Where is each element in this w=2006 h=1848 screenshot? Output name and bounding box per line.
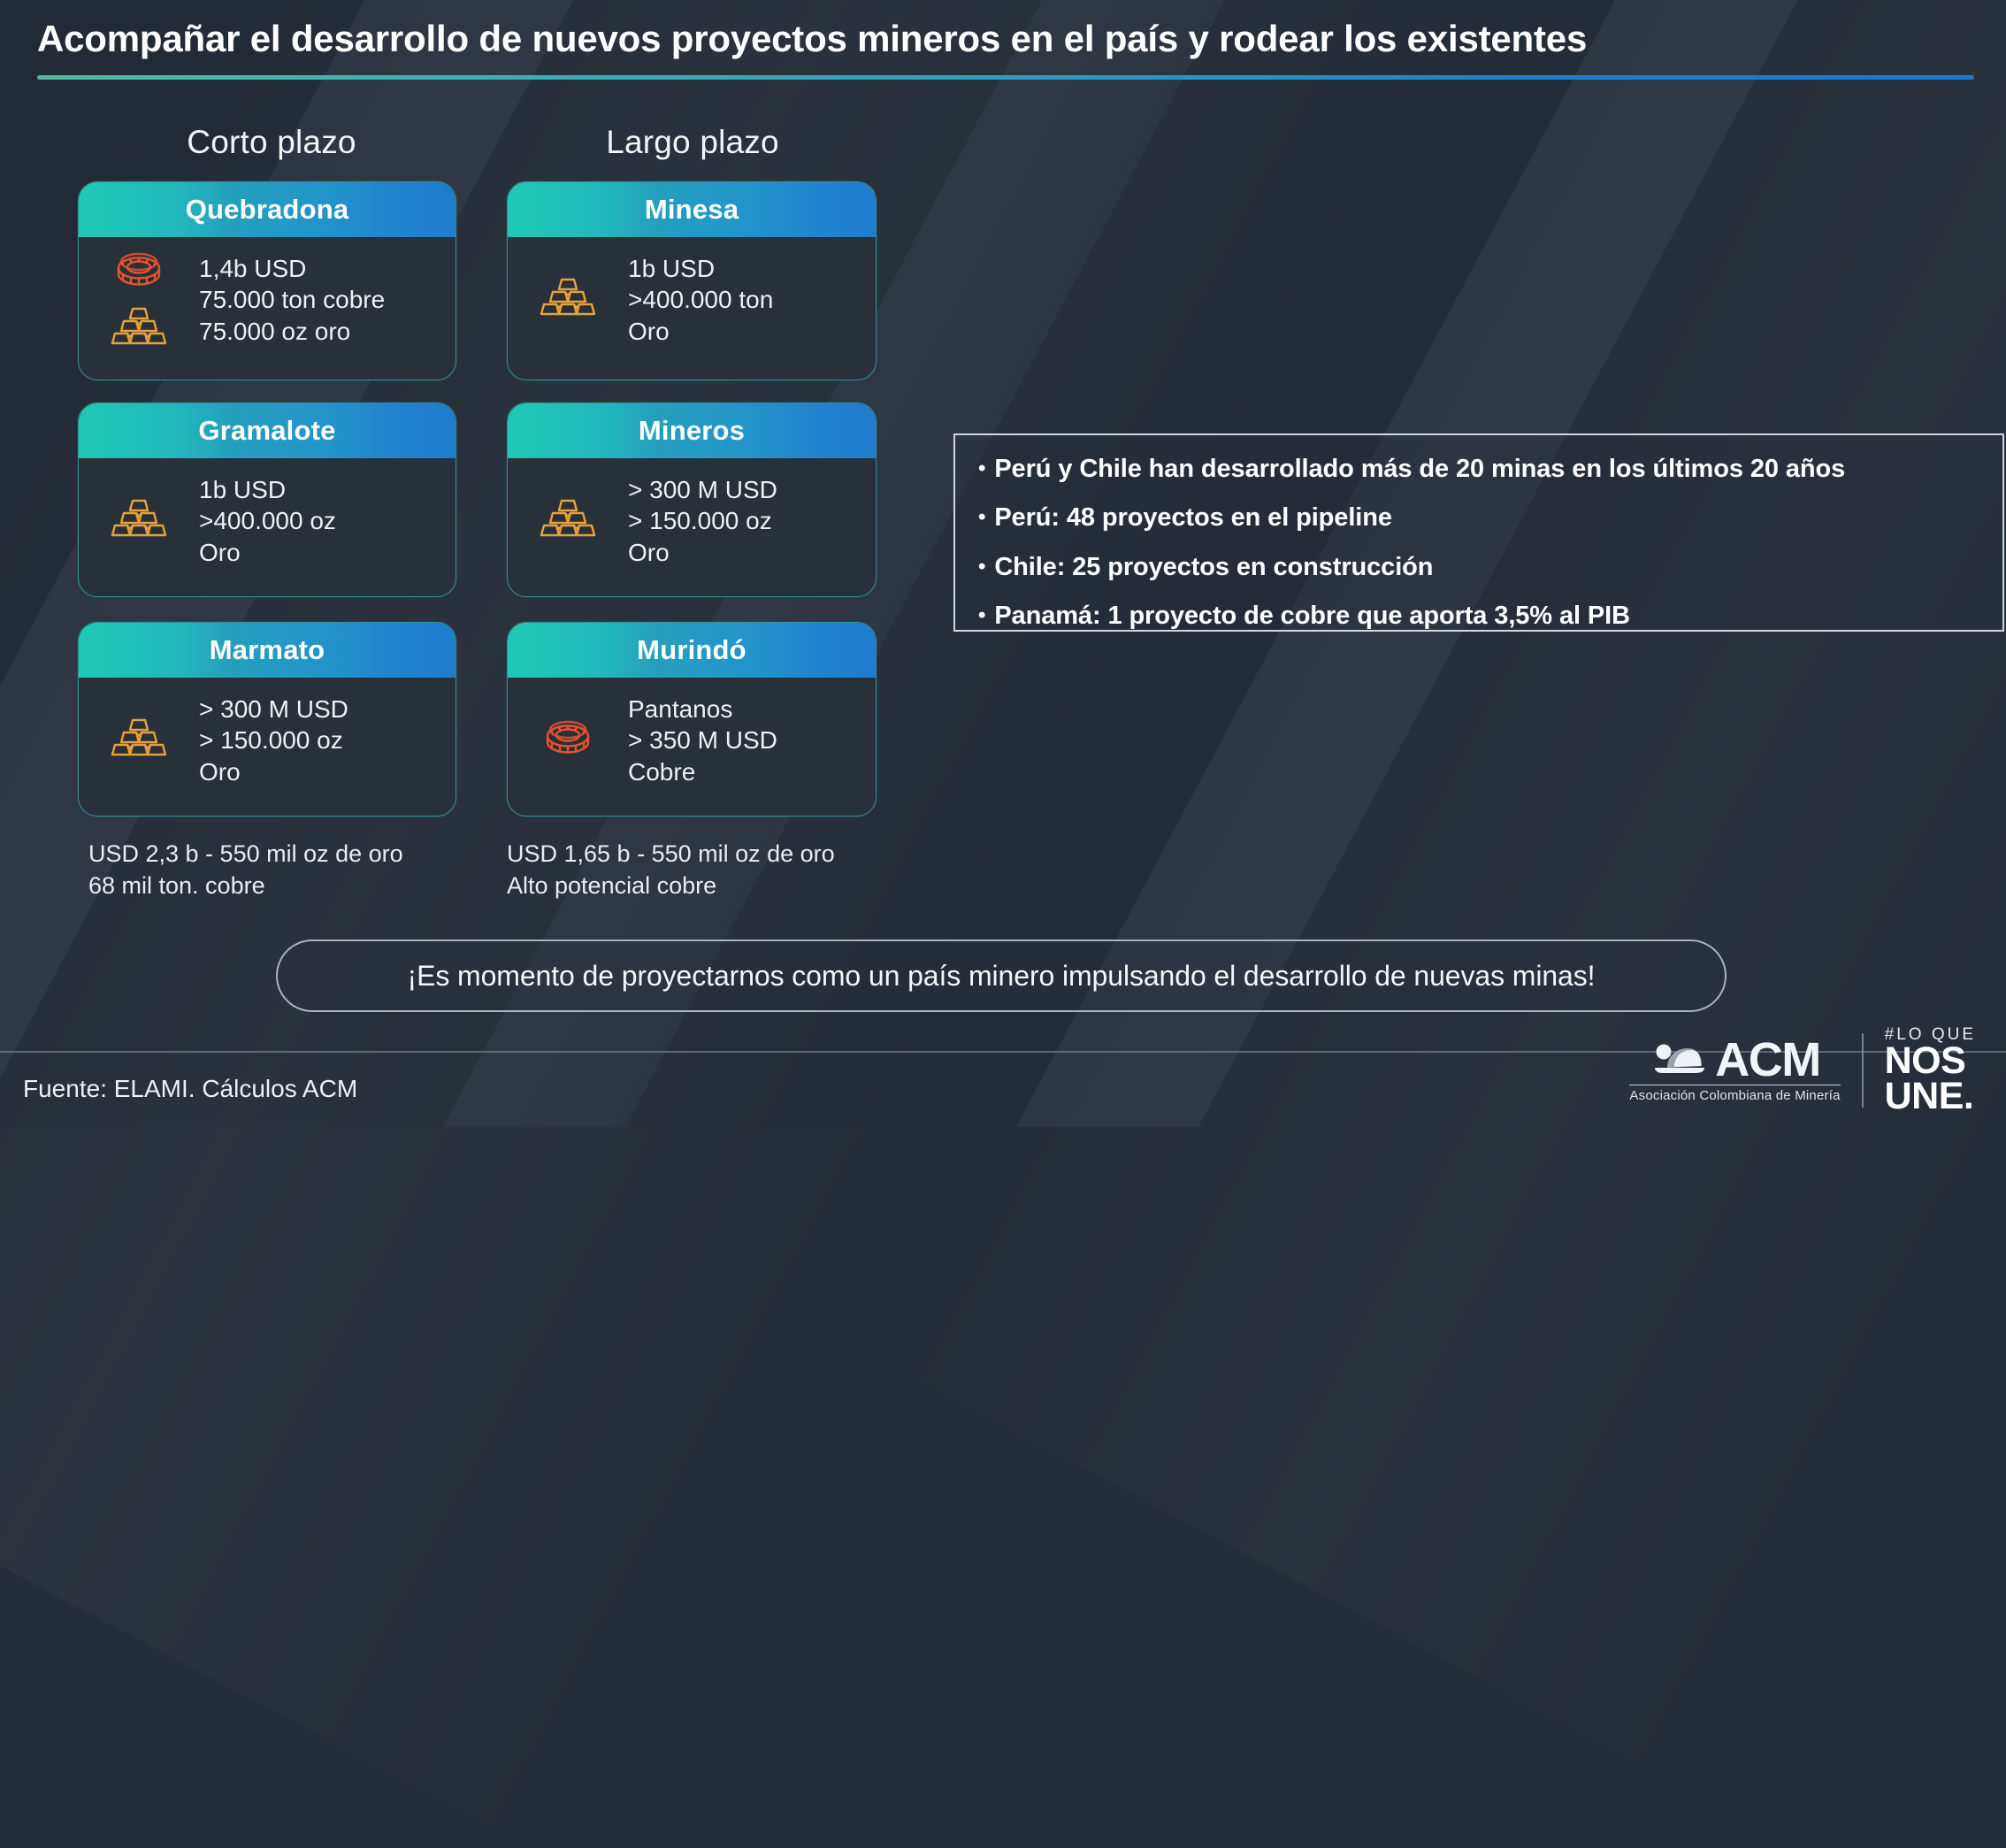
logo-divider xyxy=(1862,1033,1864,1108)
acm-subtitle: Asociación Colombiana de Minería xyxy=(1629,1085,1840,1103)
footnote-line-2: Alto potencial cobre xyxy=(507,870,923,902)
card-line-1: 1b USD xyxy=(199,474,336,505)
gold-bars-icon xyxy=(540,497,596,544)
bullet-text: Perú y Chile han desarrollado más de 20 … xyxy=(994,455,1845,483)
card-line-3: Cobre xyxy=(628,756,777,787)
card-line-2: > 350 M USD xyxy=(628,725,777,755)
card-line-3: Oro xyxy=(628,537,777,568)
column-footnote-largo-plazo: USD 1,65 b - 550 mil oz de oro Alto pote… xyxy=(507,839,923,902)
bullet-marker-icon: • xyxy=(978,455,985,482)
list-item: • Perú: 48 proyectos en el pipeline xyxy=(978,503,1976,532)
card-icon-group xyxy=(102,497,176,544)
card-detail-lines: Pantanos > 350 M USD Cobre xyxy=(628,694,777,787)
bullet-text: Perú: 48 proyectos en el pipeline xyxy=(994,503,1392,532)
card-line-2: 75.000 ton cobre xyxy=(199,284,385,315)
callout-text: ¡Es momento de proyectarnos como un país… xyxy=(408,960,1596,993)
bullet-list: • Perú y Chile han desarrollado más de 2… xyxy=(955,435,2002,631)
card-icon-group xyxy=(531,716,605,764)
card-line-3: 75.000 oz oro xyxy=(199,316,385,347)
card-line-2: >400.000 ton xyxy=(628,284,773,315)
mining-helmet-icon xyxy=(1650,1038,1708,1083)
card-line-2: >400.000 oz xyxy=(199,505,336,536)
column-heading-largo-plazo: Largo plazo xyxy=(507,124,878,161)
card-title: Quebradona xyxy=(186,194,349,226)
card-line-3: Oro xyxy=(199,756,348,787)
card-body: 1,4b USD 75.000 ton cobre 75.000 oz oro xyxy=(79,237,456,370)
callout-banner: ¡Es momento de proyectarnos como un país… xyxy=(276,939,1727,1012)
project-card-mineros[interactable]: Mineros xyxy=(507,403,877,597)
regional-context-panel: • Perú y Chile han desarrollado más de 2… xyxy=(953,433,2004,632)
gold-bars-icon xyxy=(540,276,596,323)
bullet-marker-icon: • xyxy=(978,503,985,531)
card-header: Marmato xyxy=(79,623,456,678)
copper-mine-icon xyxy=(111,248,166,296)
project-card-quebradona[interactable]: Quebradona xyxy=(78,181,456,380)
card-line-1: 1,4b USD xyxy=(199,253,385,284)
footnote-line-2: 68 mil ton. cobre xyxy=(88,870,504,902)
card-line-3: Oro xyxy=(199,537,336,568)
acm-logo-top: ACM xyxy=(1650,1038,1819,1083)
header: Acompañar el desarrollo de nuevos proyec… xyxy=(37,18,1974,80)
bullet-text: Chile: 25 proyectos en construcción xyxy=(994,553,1433,581)
card-line-2: > 150.000 oz xyxy=(199,725,348,755)
card-detail-lines: > 300 M USD > 150.000 oz Oro xyxy=(199,694,348,787)
card-detail-lines: 1,4b USD 75.000 ton cobre 75.000 oz oro xyxy=(199,253,385,347)
card-line-1: Pantanos xyxy=(628,694,777,725)
card-icon-group xyxy=(102,248,176,352)
tagline-nos-une: #LO QUE NOS UNE. xyxy=(1885,1027,1976,1114)
bullet-text: Panamá: 1 proyecto de cobre que aporta 3… xyxy=(994,602,1630,630)
card-icon-group xyxy=(102,717,176,763)
card-icon-group xyxy=(531,276,605,323)
list-item: • Perú y Chile han desarrollado más de 2… xyxy=(978,455,1976,483)
bullet-marker-icon: • xyxy=(978,602,985,629)
gold-bars-icon xyxy=(111,305,167,352)
card-body: > 300 M USD > 150.000 oz Oro xyxy=(79,678,456,805)
card-header: Murindó xyxy=(508,623,876,678)
list-item: • Panamá: 1 proyecto de cobre que aporta… xyxy=(978,602,1976,630)
project-card-murindo[interactable]: Murindó Pantanos > 350 M USD xyxy=(507,622,877,817)
card-header: Minesa xyxy=(508,182,876,237)
card-body: Pantanos > 350 M USD Cobre xyxy=(508,678,876,805)
card-title: Murindó xyxy=(637,634,747,666)
card-line-1: > 300 M USD xyxy=(628,474,777,505)
project-card-marmato[interactable]: Marmato xyxy=(78,622,456,817)
card-header: Mineros xyxy=(508,403,876,458)
card-line-1: 1b USD xyxy=(628,253,773,284)
page-title: Acompañar el desarrollo de nuevos proyec… xyxy=(37,18,1974,60)
slide-root: Acompañar el desarrollo de nuevos proyec… xyxy=(0,0,2006,1127)
footer-source-text: Fuente: ELAMI. Cálculos ACM xyxy=(23,1075,357,1103)
card-body: 1b USD >400.000 oz Oro xyxy=(79,458,456,586)
title-underline-rule xyxy=(37,75,1974,80)
project-card-gramalote[interactable]: Gramalote xyxy=(78,403,456,597)
card-title: Marmato xyxy=(210,634,325,666)
gold-bars-icon xyxy=(111,717,167,763)
card-line-1: > 300 M USD xyxy=(199,694,348,725)
tagline-line-3: UNE. xyxy=(1885,1078,1976,1114)
bullet-marker-icon: • xyxy=(978,553,985,580)
footnote-line-1: USD 2,3 b - 550 mil oz de oro xyxy=(88,839,504,870)
card-title: Minesa xyxy=(645,194,739,226)
footnote-line-1: USD 1,65 b - 550 mil oz de oro xyxy=(507,839,923,870)
card-title: Mineros xyxy=(639,415,745,447)
card-detail-lines: > 300 M USD > 150.000 oz Oro xyxy=(628,474,777,568)
copper-mine-icon xyxy=(540,716,595,764)
card-body: 1b USD >400.000 ton Oro xyxy=(508,237,876,364)
column-heading-corto-plazo: Corto plazo xyxy=(80,124,463,161)
project-card-minesa[interactable]: Minesa xyxy=(507,181,877,380)
acm-wordmark: ACM xyxy=(1715,1038,1819,1083)
card-icon-group xyxy=(531,497,605,544)
gold-bars-icon xyxy=(111,497,167,544)
card-title: Gramalote xyxy=(198,415,335,447)
footer-logo-group: ACM Asociación Colombiana de Minería #LO… xyxy=(1629,1024,1976,1116)
list-item: • Chile: 25 proyectos en construcción xyxy=(978,553,1976,581)
tagline-line-2: NOS xyxy=(1885,1043,1976,1078)
column-footnote-corto-plazo: USD 2,3 b - 550 mil oz de oro 68 mil ton… xyxy=(88,839,504,902)
card-detail-lines: 1b USD >400.000 oz Oro xyxy=(199,474,336,568)
card-detail-lines: 1b USD >400.000 ton Oro xyxy=(628,253,773,347)
card-body: > 300 M USD > 150.000 oz Oro xyxy=(508,458,876,586)
acm-logo: ACM Asociación Colombiana de Minería xyxy=(1629,1038,1840,1103)
card-header: Quebradona xyxy=(79,182,456,237)
card-header: Gramalote xyxy=(79,403,456,458)
card-line-3: Oro xyxy=(628,316,773,347)
card-line-2: > 150.000 oz xyxy=(628,505,777,536)
